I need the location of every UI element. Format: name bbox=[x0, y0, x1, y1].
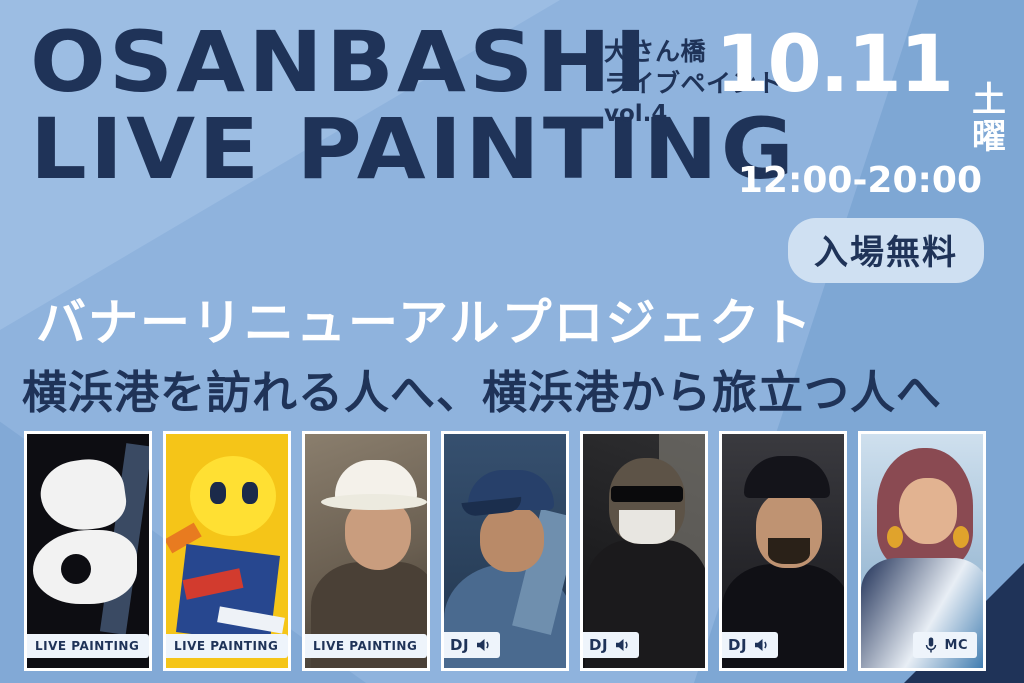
role-tag: MC bbox=[913, 632, 977, 658]
role-tag-label: LIVE PAINTING bbox=[313, 639, 417, 653]
role-tag: LIVE PAINTING bbox=[24, 634, 149, 658]
speaker-icon bbox=[474, 636, 492, 654]
artist-card[interactable]: LIVE PAINTING bbox=[302, 431, 430, 671]
role-tag-label: DJ bbox=[450, 636, 469, 654]
artist-photo bbox=[305, 434, 427, 668]
artwork-shape-dot bbox=[61, 554, 91, 584]
role-tag: DJ bbox=[580, 632, 639, 658]
artist-card[interactable]: DJ bbox=[719, 431, 847, 671]
weekday-char1: 土 bbox=[972, 82, 1006, 119]
role-tag: LIVE PAINTING bbox=[302, 634, 427, 658]
artist-card[interactable]: DJ bbox=[441, 431, 569, 671]
speaker-icon bbox=[752, 636, 770, 654]
photo-face bbox=[899, 478, 957, 544]
artist-card[interactable]: LIVE PAINTING bbox=[24, 431, 152, 671]
photo-sunglasses bbox=[611, 486, 683, 502]
event-date: 10.11 bbox=[715, 26, 952, 104]
microphone-icon bbox=[922, 636, 940, 654]
free-admission-badge: 入場無料 bbox=[788, 218, 984, 283]
photo-hat-brim bbox=[321, 494, 427, 510]
photo-earring-left bbox=[887, 526, 903, 548]
artist-card[interactable]: LIVE PAINTING bbox=[163, 431, 291, 671]
project-tagline: 横浜港を訪れる人へ、横浜港から旅立つ人へ bbox=[22, 356, 942, 421]
photo-beard bbox=[768, 538, 810, 564]
artwork-shape-eye-left bbox=[210, 482, 226, 504]
project-subtitle: バナーリニューアルプロジェクト bbox=[36, 283, 814, 355]
role-tag-label: DJ bbox=[589, 636, 608, 654]
artwork-shape-face bbox=[190, 456, 276, 536]
event-weekday: 土 曜 bbox=[972, 82, 1006, 155]
role-tag-label: LIVE PAINTING bbox=[35, 639, 139, 653]
artist-strip: LIVE PAINTING LIVE PAINTING bbox=[24, 431, 986, 671]
role-tag: DJ bbox=[441, 632, 500, 658]
role-tag: LIVE PAINTING bbox=[163, 634, 288, 658]
artwork-shape-eye-right bbox=[242, 482, 258, 504]
weekday-char2: 曜 bbox=[972, 119, 1006, 156]
photo-face bbox=[345, 500, 411, 570]
role-tag-label: DJ bbox=[728, 636, 747, 654]
artwork-thumbnail bbox=[27, 434, 149, 668]
role-tag: DJ bbox=[719, 632, 778, 658]
poster-canvas: OSANBASHI LIVE PAINTING 大さん橋 ライブペイント vol… bbox=[0, 0, 1024, 683]
artist-card[interactable]: MC bbox=[858, 431, 986, 671]
role-tag-label: MC bbox=[945, 638, 968, 653]
photo-earring-right bbox=[953, 526, 969, 548]
role-tag-label: LIVE PAINTING bbox=[174, 639, 278, 653]
artist-card[interactable]: DJ bbox=[580, 431, 708, 671]
photo-face bbox=[480, 506, 544, 572]
artwork-thumbnail bbox=[166, 434, 288, 668]
event-time: 12:00-20:00 bbox=[738, 160, 982, 201]
speaker-icon bbox=[613, 636, 631, 654]
photo-beard bbox=[619, 510, 675, 544]
